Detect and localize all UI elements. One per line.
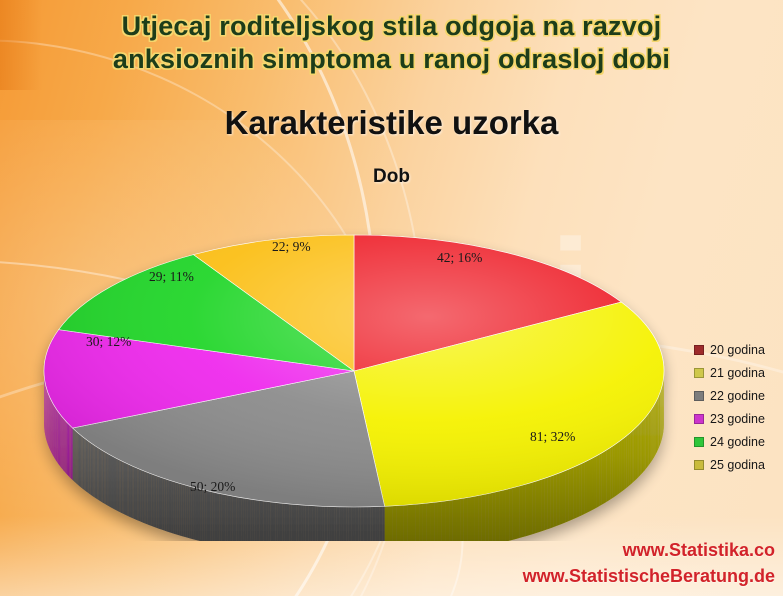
pie-chart-svg	[24, 196, 684, 541]
legend-swatch-icon	[694, 414, 704, 424]
pie-chart	[24, 196, 684, 541]
slice-label-20-godina: 42; 16%	[437, 250, 482, 266]
legend-swatch-icon	[694, 368, 704, 378]
legend-label: 21 godina	[710, 366, 765, 380]
footer-url-2[interactable]: www.StatistischeBeratung.de	[523, 563, 775, 590]
legend-label: 22 godine	[710, 389, 765, 403]
header-line-2: anksioznih simptoma u ranoj odrasloj dob…	[113, 43, 670, 76]
legend-label: 20 godina	[710, 343, 765, 357]
legend-swatch-icon	[694, 391, 704, 401]
slice-label-25-godina: 22; 9%	[272, 239, 311, 255]
legend-item-21-godina[interactable]: 21 godina	[694, 361, 765, 384]
chart-subtitle: Dob	[0, 166, 783, 188]
legend-item-25-godina[interactable]: 25 godina	[694, 453, 765, 476]
slice-label-21-godina: 81; 32%	[530, 429, 575, 445]
legend-item-24-godine[interactable]: 24 godine	[694, 430, 765, 453]
header-line-1: Utjecaj roditeljskog stila odgoja na raz…	[122, 10, 662, 43]
footer-urls: www.Statistika.co www.StatistischeBeratu…	[523, 537, 775, 590]
slice-label-22-godine: 50; 20%	[190, 479, 235, 495]
legend-item-20-godina[interactable]: 20 godina	[694, 338, 765, 361]
chart-title: Karakteristike uzorka	[0, 104, 783, 142]
poster-header: Utjecaj roditeljskog stila odgoja na raz…	[0, 0, 783, 86]
poster-canvas: Utjecaj roditeljskog stila odgoja na raz…	[0, 0, 783, 596]
legend-item-23-godine[interactable]: 23 godine	[694, 407, 765, 430]
slice-label-24-godine: 29; 11%	[149, 269, 194, 285]
footer-url-1[interactable]: www.Statistika.co	[523, 537, 775, 564]
legend-label: 25 godina	[710, 458, 765, 472]
legend-item-22-godine[interactable]: 22 godine	[694, 384, 765, 407]
legend-swatch-icon	[694, 345, 704, 355]
legend-swatch-icon	[694, 437, 704, 447]
chart-legend: 20 godina21 godina22 godine23 godine24 g…	[694, 338, 765, 476]
legend-label: 24 godine	[710, 435, 765, 449]
slice-label-23-godine: 30; 12%	[86, 334, 131, 350]
legend-label: 23 godine	[710, 412, 765, 426]
legend-swatch-icon	[694, 460, 704, 470]
